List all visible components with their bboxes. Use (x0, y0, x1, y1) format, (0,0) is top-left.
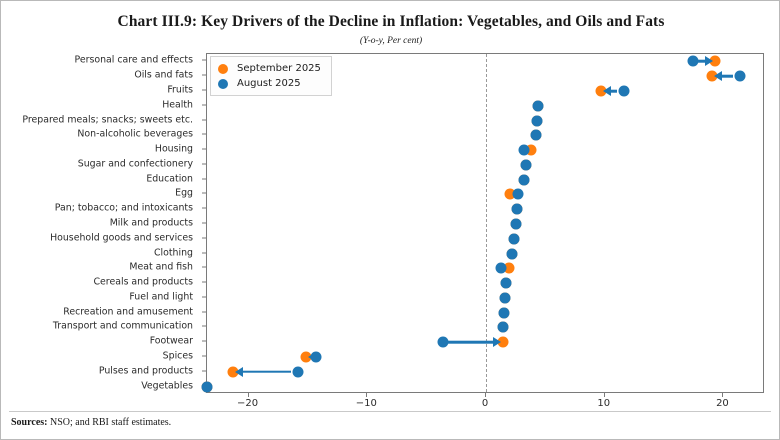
x-axis: −20−1001020 (206, 393, 764, 417)
change-arrow-head-icon (603, 86, 611, 96)
data-point-august (438, 337, 449, 348)
y-axis-label: Recreation and amusement (63, 306, 193, 317)
data-point-august (533, 100, 544, 111)
data-point-august (518, 174, 529, 185)
data-point-august (501, 278, 512, 289)
data-point-august (202, 381, 213, 392)
data-point-august (511, 204, 522, 215)
chart-title: Chart III.9: Key Drivers of the Decline … (1, 13, 780, 31)
data-point-august (496, 263, 507, 274)
data-point-august (498, 307, 509, 318)
x-axis-tick (604, 393, 605, 397)
y-axis-label: Health (162, 99, 193, 110)
chart-subtitle: (Y-o-y, Per cent) (1, 36, 780, 46)
y-axis-label: Transport and communication (53, 321, 193, 332)
legend-dot-september-icon (218, 64, 228, 74)
sources-text: NSO; and RBI staff estimates. (47, 417, 171, 428)
data-point-august (497, 322, 508, 333)
sources-note: Sources: NSO; and RBI staff estimates. (11, 417, 171, 428)
y-axis-label: Clothing (154, 247, 193, 258)
y-axis-category-labels: Personal care and effectsOils and fatsFr… (1, 53, 201, 393)
y-axis-label: Fuel and light (129, 291, 193, 302)
legend-label-august: August 2025 (237, 78, 301, 89)
y-axis-label: Egg (175, 188, 193, 199)
sources-label: Sources: (11, 417, 47, 428)
x-axis-tick (366, 393, 367, 397)
y-axis-label: Fruits (167, 84, 193, 95)
plot-area (206, 53, 764, 393)
data-point-august (509, 233, 520, 244)
y-axis-label: Household goods and services (50, 232, 193, 243)
x-axis-tick-label: 20 (716, 398, 729, 409)
footer-divider (9, 411, 771, 412)
data-point-august (518, 145, 529, 156)
y-axis-label: Pan; tobacco; and intoxicants (55, 203, 193, 214)
data-point-august (293, 366, 304, 377)
legend-item-september: September 2025 (218, 62, 321, 75)
change-arrow-head-icon (705, 56, 713, 66)
data-point-august (521, 159, 532, 170)
chart-page: Chart III.9: Key Drivers of the Decline … (0, 0, 780, 440)
y-axis-label: Cereals and products (93, 277, 193, 288)
change-arrow-head-icon (714, 71, 722, 81)
data-point-august (687, 56, 698, 67)
y-axis-label: Non-alcoholic beverages (77, 129, 193, 140)
x-axis-tick (248, 393, 249, 397)
x-axis-tick-label: −20 (237, 398, 258, 409)
data-point-august (510, 219, 521, 230)
change-arrow-line (235, 371, 291, 374)
y-axis-label: Education (146, 173, 193, 184)
change-arrow-head-icon (235, 367, 243, 377)
change-arrow-head-icon (493, 337, 501, 347)
y-axis-label: Vegetables (141, 380, 193, 391)
data-point-august (735, 71, 746, 82)
y-axis-label: Housing (155, 144, 193, 155)
data-point-august (499, 292, 510, 303)
chart-legend: September 2025 August 2025 (210, 56, 332, 96)
y-axis-label: Oils and fats (134, 70, 193, 81)
y-axis-label: Sugar and confectionery (78, 158, 193, 169)
x-axis-tick-label: −10 (356, 398, 377, 409)
x-axis-tick-label: 0 (482, 398, 488, 409)
x-axis-tick-label: 10 (597, 398, 610, 409)
y-axis-label: Milk and products (110, 218, 193, 229)
x-axis-tick (485, 393, 486, 397)
change-arrow-head-icon (308, 352, 316, 362)
x-axis-tick (722, 393, 723, 397)
data-point-august (530, 130, 541, 141)
legend-item-august: August 2025 (218, 77, 321, 90)
data-point-august (513, 189, 524, 200)
y-axis-label: Pulses and products (99, 365, 193, 376)
y-axis-label: Spices (163, 351, 193, 362)
y-axis-label: Meat and fish (129, 262, 193, 273)
data-point-august (618, 85, 629, 96)
legend-label-september: September 2025 (237, 63, 321, 74)
y-axis-label: Footwear (150, 336, 193, 347)
legend-dot-august-icon (218, 79, 228, 89)
data-point-august (532, 115, 543, 126)
y-axis-label: Personal care and effects (75, 55, 193, 66)
y-axis-label: Prepared meals; snacks; sweets etc. (22, 114, 193, 125)
change-arrow-line (445, 341, 495, 344)
data-point-august (507, 248, 518, 259)
